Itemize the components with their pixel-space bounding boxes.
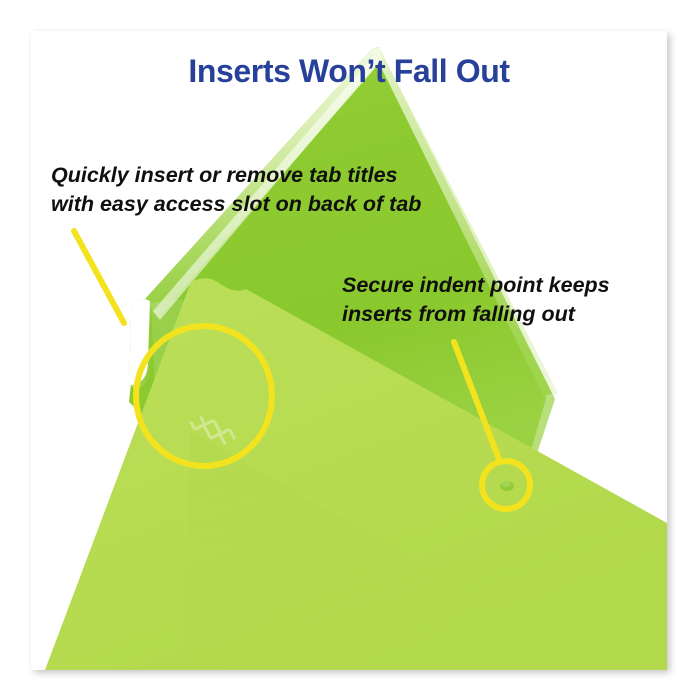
divider-illustration — [31, 31, 667, 670]
annotation-left-line1: Quickly insert or remove tab titles — [51, 161, 421, 190]
product-photo — [31, 31, 667, 670]
indent-point — [500, 481, 514, 491]
annotation-left: Quickly insert or remove tab titles with… — [51, 161, 421, 219]
product-image-card: Inserts Won’t Fall Out Quickly insert or… — [31, 31, 667, 670]
annotation-right-line2: inserts from falling out — [342, 300, 610, 329]
annotation-left-line2: with easy access slot on back of tab — [51, 190, 421, 219]
screenshot-root: Inserts Won’t Fall Out Quickly insert or… — [0, 0, 700, 700]
annotation-right-line1: Secure indent point keeps — [342, 271, 610, 300]
page-title: Inserts Won’t Fall Out — [31, 52, 667, 90]
annotation-right: Secure indent point keeps inserts from f… — [342, 271, 610, 329]
